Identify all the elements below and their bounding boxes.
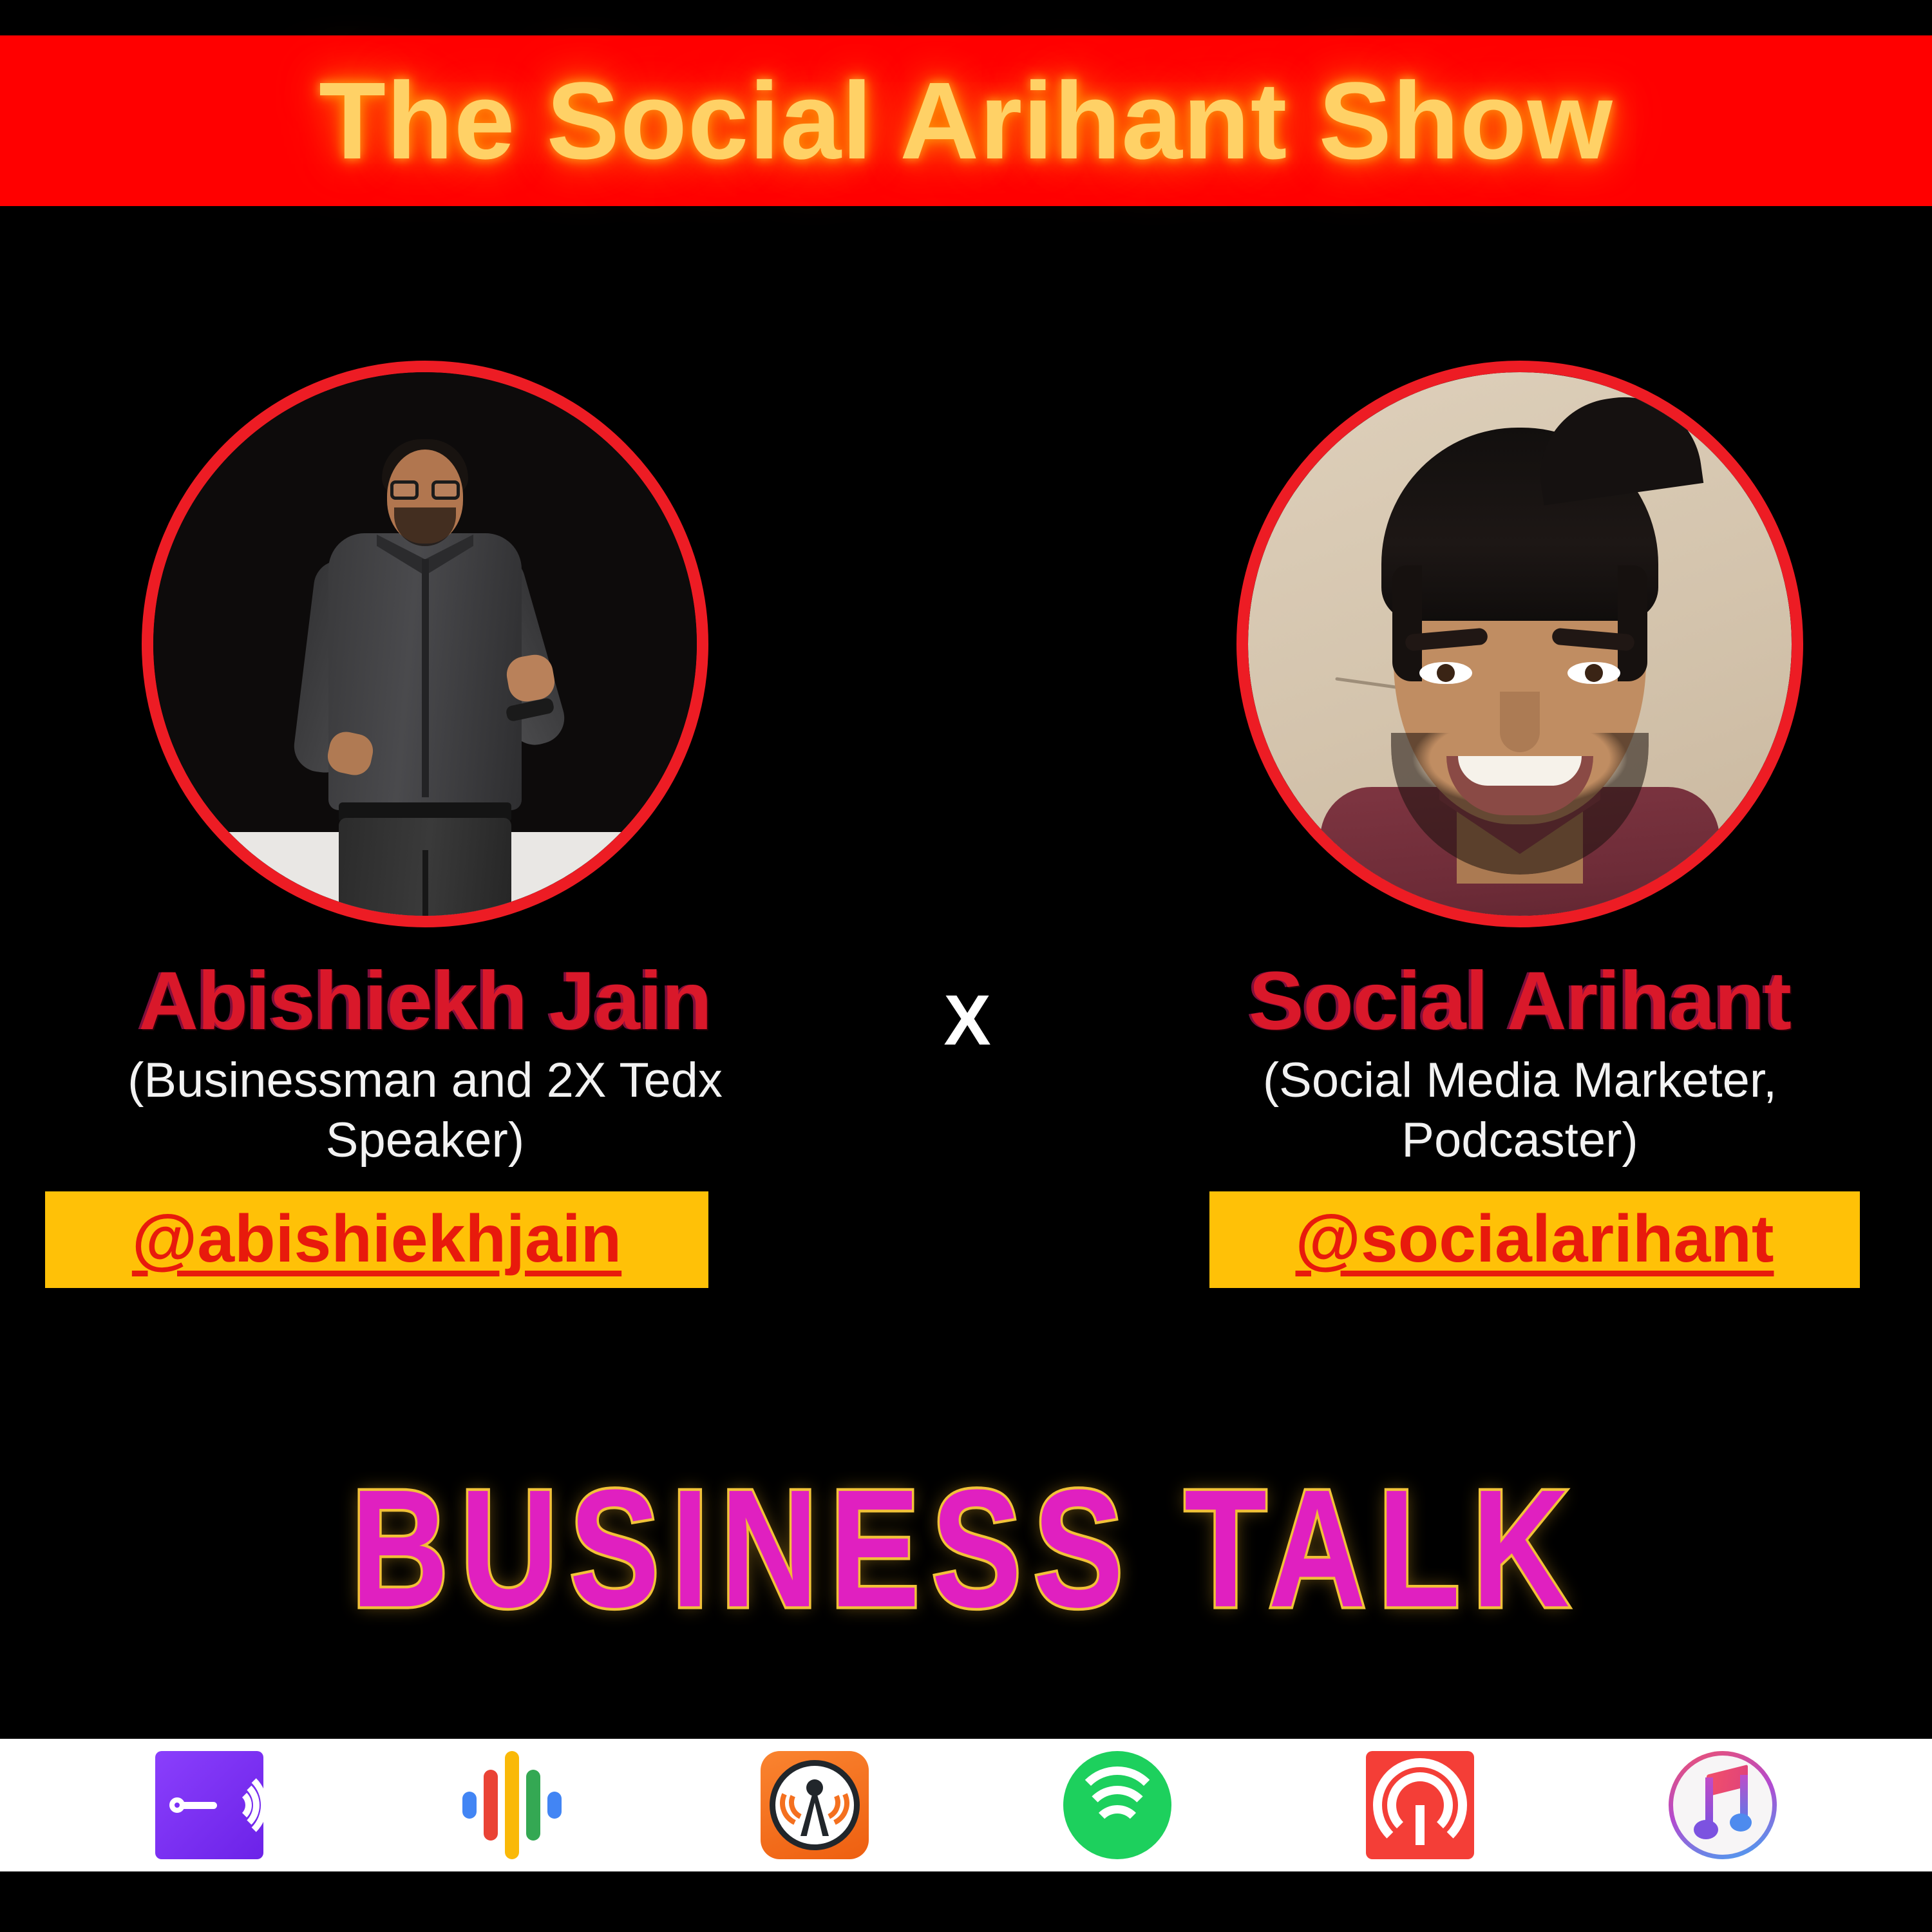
google-podcasts-icon[interactable] (458, 1751, 566, 1859)
pocket-casts-icon[interactable] (1366, 1751, 1474, 1859)
podcast-promo-poster: The Social Arihant Show (0, 0, 1932, 1932)
host-eye-right (1567, 662, 1620, 684)
guest-card-right: Social Arihant (Social Media Marketer, P… (1133, 361, 1906, 1288)
itunes-podcasts-icon[interactable] (1669, 1751, 1777, 1859)
collab-separator-x: X (929, 985, 1006, 1056)
guest-handle-chip-right[interactable]: @socialarihant (1209, 1191, 1860, 1288)
spotify-icon[interactable] (1063, 1751, 1171, 1859)
guest-name-left: Abishiekh Jain (39, 958, 811, 1045)
guest-handle-right: @socialarihant (1296, 1201, 1774, 1278)
castbox-icon[interactable] (761, 1751, 869, 1859)
google-podcasts-bar-2 (505, 1751, 519, 1859)
google-podcasts-bar-3 (526, 1770, 540, 1841)
guest-card-left: Abishiekh Jain (Businessman and 2X Tedx … (39, 361, 811, 1288)
guests-row: Abishiekh Jain (Businessman and 2X Tedx … (0, 361, 1932, 1436)
show-title: The Social Arihant Show (319, 58, 1613, 184)
host-eye-left (1419, 662, 1472, 684)
google-podcasts-bar-0 (462, 1792, 477, 1819)
speaker-glasses (390, 480, 460, 500)
host-sideburn-left (1392, 565, 1422, 681)
host-sideburn-right (1618, 565, 1647, 681)
guest-handle-left: @abishiekhjain (132, 1201, 621, 1278)
host-headshot-photo (1248, 372, 1792, 916)
speaker-stage-photo (153, 372, 697, 916)
episode-topic: BUSINESS TALK (0, 1481, 1932, 1616)
guest-handle-chip-left[interactable]: @abishiekhjain (45, 1191, 708, 1288)
guest-photo-left (142, 361, 708, 927)
platform-bar (0, 1739, 1932, 1871)
host-nose (1500, 692, 1540, 752)
host-teeth (1458, 756, 1582, 786)
show-title-banner: The Social Arihant Show (0, 35, 1932, 206)
google-podcasts-bar-1 (484, 1770, 498, 1841)
anchor-icon[interactable] (155, 1751, 263, 1859)
guest-role-left: (Businessman and 2X Tedx Speaker) (39, 1051, 811, 1170)
guest-name-right: Social Arihant (1133, 958, 1906, 1045)
speaker-shirt-placket (422, 559, 429, 797)
speaker-trousers (339, 818, 511, 916)
episode-topic-label: BUSINESS TALK (351, 1465, 1581, 1633)
guest-role-right: (Social Media Marketer, Podcaster) (1133, 1051, 1906, 1170)
google-podcasts-bar-4 (547, 1792, 562, 1819)
guest-photo-right (1236, 361, 1803, 927)
